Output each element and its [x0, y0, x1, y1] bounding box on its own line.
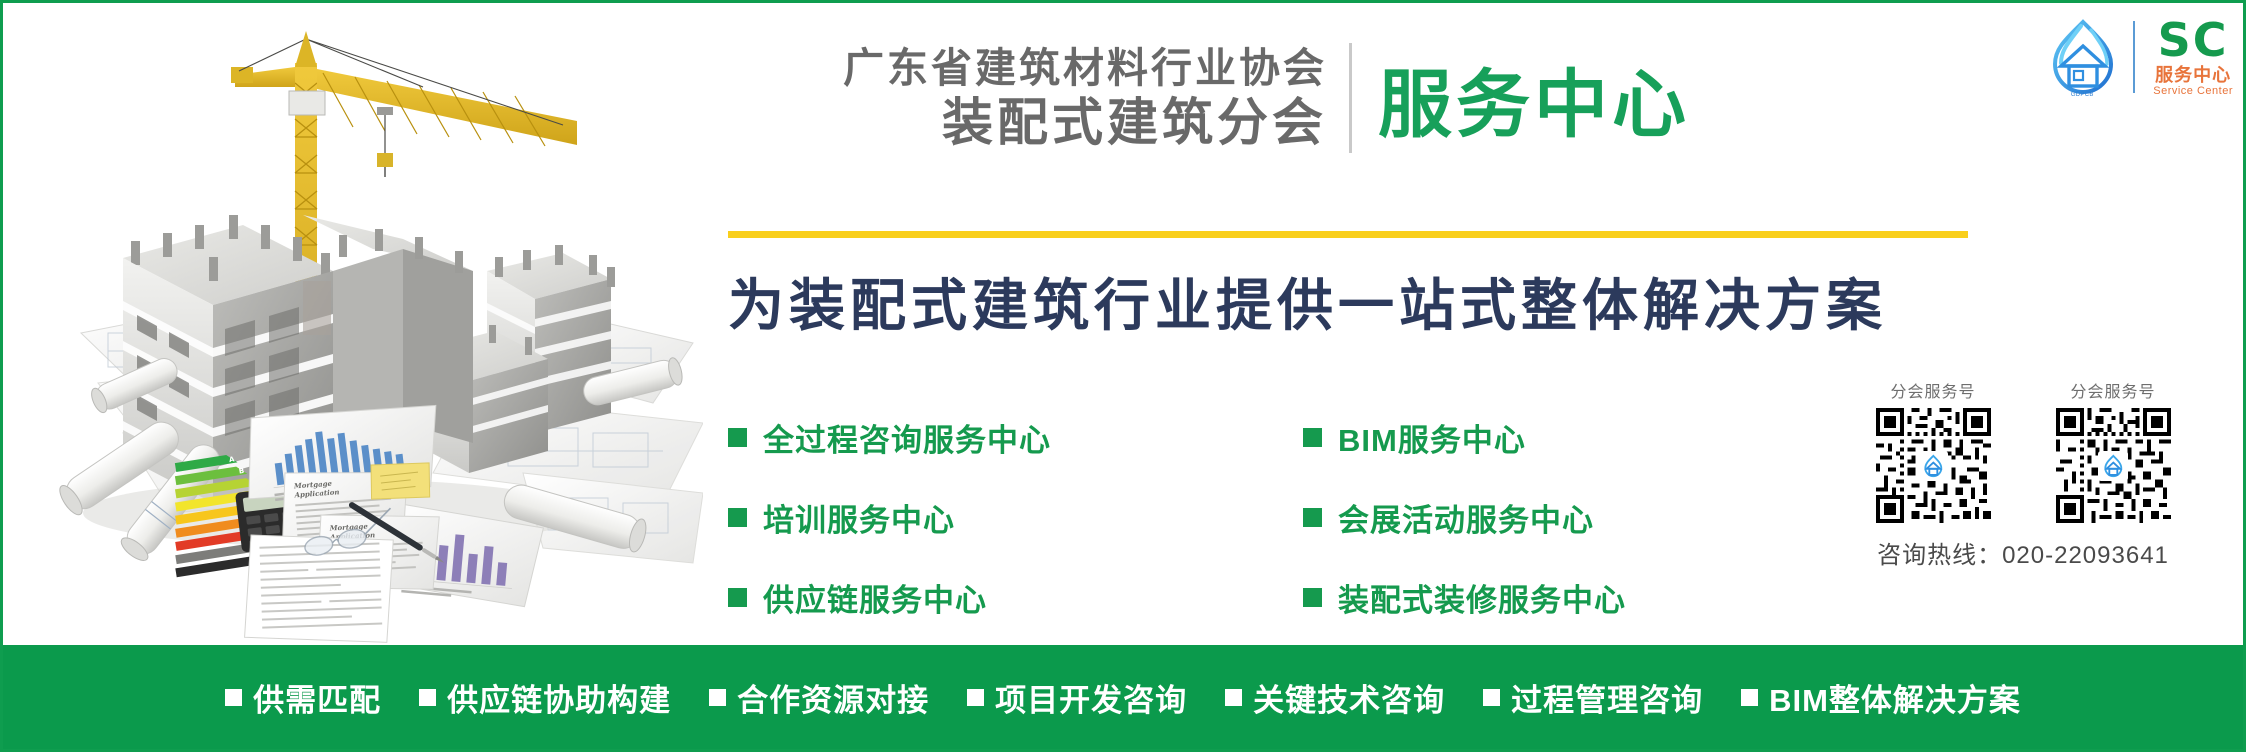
footer-keyword-bar: 供需匹配 供应链协助构建 合作资源对接 项目开发咨询 关键技术咨询 过程管理咨询…	[3, 645, 2243, 749]
association-name-line2: 装配式建筑分会	[942, 97, 1327, 148]
footer-item[interactable]: 项目开发咨询	[967, 675, 1187, 720]
footer-item-label: 关键技术咨询	[1253, 675, 1445, 720]
service-center-title: 服务中心	[1378, 45, 1690, 152]
footer-item-label: BIM整体解决方案	[1769, 675, 2021, 720]
brand-logo: GDPCB SC 服务中心 Service Center	[2043, 11, 2233, 103]
square-bullet-icon	[1741, 689, 1758, 706]
sticky-note	[368, 459, 433, 503]
yellow-divider-rule	[728, 231, 1968, 238]
footer-item-label: 供需匹配	[253, 675, 381, 720]
association-name-block: 广东省建筑材料行业协会 装配式建筑分会	[843, 48, 1327, 148]
square-bullet-icon	[1303, 588, 1322, 607]
square-bullet-icon	[728, 428, 747, 447]
service-item[interactable]: 供应链服务中心	[728, 575, 1051, 620]
service-item-label: 会展活动服务中心	[1338, 495, 1594, 540]
service-item[interactable]: 会展活动服务中心	[1303, 495, 1626, 540]
footer-item[interactable]: 合作资源对接	[709, 675, 929, 720]
qr-code-2[interactable]	[2056, 408, 2171, 523]
square-bullet-icon	[225, 689, 242, 706]
service-item-label: BIM服务中心	[1338, 415, 1526, 460]
square-bullet-icon	[967, 689, 984, 706]
service-list-right: BIM服务中心 会展活动服务中心 装配式装修服务中心	[1303, 415, 1626, 655]
qr-cell: 分会服务号	[1858, 378, 2008, 523]
footer-item[interactable]: 供需匹配	[225, 675, 381, 720]
sc-chinese-label: 服务中心	[2155, 66, 2231, 84]
qr-code-1[interactable]	[1876, 408, 1991, 523]
footer-item[interactable]: 过程管理咨询	[1483, 675, 1703, 720]
service-item[interactable]: 装配式装修服务中心	[1303, 575, 1626, 620]
hotline-text: 咨询热线：020-22093641	[1858, 535, 2188, 570]
service-list-left: 全过程咨询服务中心 培训服务中心 供应链服务中心	[728, 415, 1051, 655]
header-title-row: 广东省建筑材料行业协会 装配式建筑分会 服务中心	[843, 43, 1690, 153]
footer-item[interactable]: 关键技术咨询	[1225, 675, 1445, 720]
square-bullet-icon	[709, 689, 726, 706]
footer-item[interactable]: 供应链协助构建	[419, 675, 671, 720]
square-bullet-icon	[1303, 508, 1322, 527]
association-name-line1: 广东省建筑材料行业协会	[843, 48, 1327, 89]
house-flame-logo: GDPCB	[2043, 18, 2121, 96]
sc-abbreviation: SC	[2158, 17, 2229, 63]
qr-label: 分会服务号	[1858, 378, 2008, 402]
logo-caption: GDPCB	[2043, 92, 2121, 98]
footer-item-label: 过程管理咨询	[1511, 675, 1703, 720]
qr-label: 分会服务号	[2038, 378, 2188, 402]
square-bullet-icon	[419, 689, 436, 706]
square-bullet-icon	[728, 588, 747, 607]
qr-contact-block: 分会服务号	[1858, 378, 2188, 570]
footer-item-label: 供应链协助构建	[447, 675, 671, 720]
service-item-label: 供应链服务中心	[763, 575, 987, 620]
title-separator	[1349, 43, 1352, 153]
main-slogan: 为装配式建筑行业提供一站式整体解决方案	[728, 261, 1887, 342]
service-item-label: 培训服务中心	[763, 495, 955, 540]
service-item-label: 全过程咨询服务中心	[763, 415, 1051, 460]
construction-site-illustration: A B C D E F G H I	[3, 3, 703, 648]
footer-item-label: 项目开发咨询	[995, 675, 1187, 720]
logo-divider	[2133, 21, 2135, 93]
service-item[interactable]: 培训服务中心	[728, 495, 1051, 540]
square-bullet-icon	[728, 508, 747, 527]
qr-center-logo	[1918, 451, 1948, 481]
qr-center-logo	[2098, 451, 2128, 481]
service-item-label: 装配式装修服务中心	[1338, 575, 1626, 620]
square-bullet-icon	[1483, 689, 1500, 706]
square-bullet-icon	[1303, 428, 1322, 447]
service-item[interactable]: BIM服务中心	[1303, 415, 1626, 460]
footer-item[interactable]: BIM整体解决方案	[1741, 675, 2021, 720]
square-bullet-icon	[1225, 689, 1242, 706]
sc-english-label: Service Center	[2153, 86, 2233, 97]
promo-banner: A B C D E F G H I	[0, 0, 2246, 752]
footer-item-label: 合作资源对接	[737, 675, 929, 720]
qr-cell: 分会服务号	[2038, 378, 2188, 523]
service-item[interactable]: 全过程咨询服务中心	[728, 415, 1051, 460]
